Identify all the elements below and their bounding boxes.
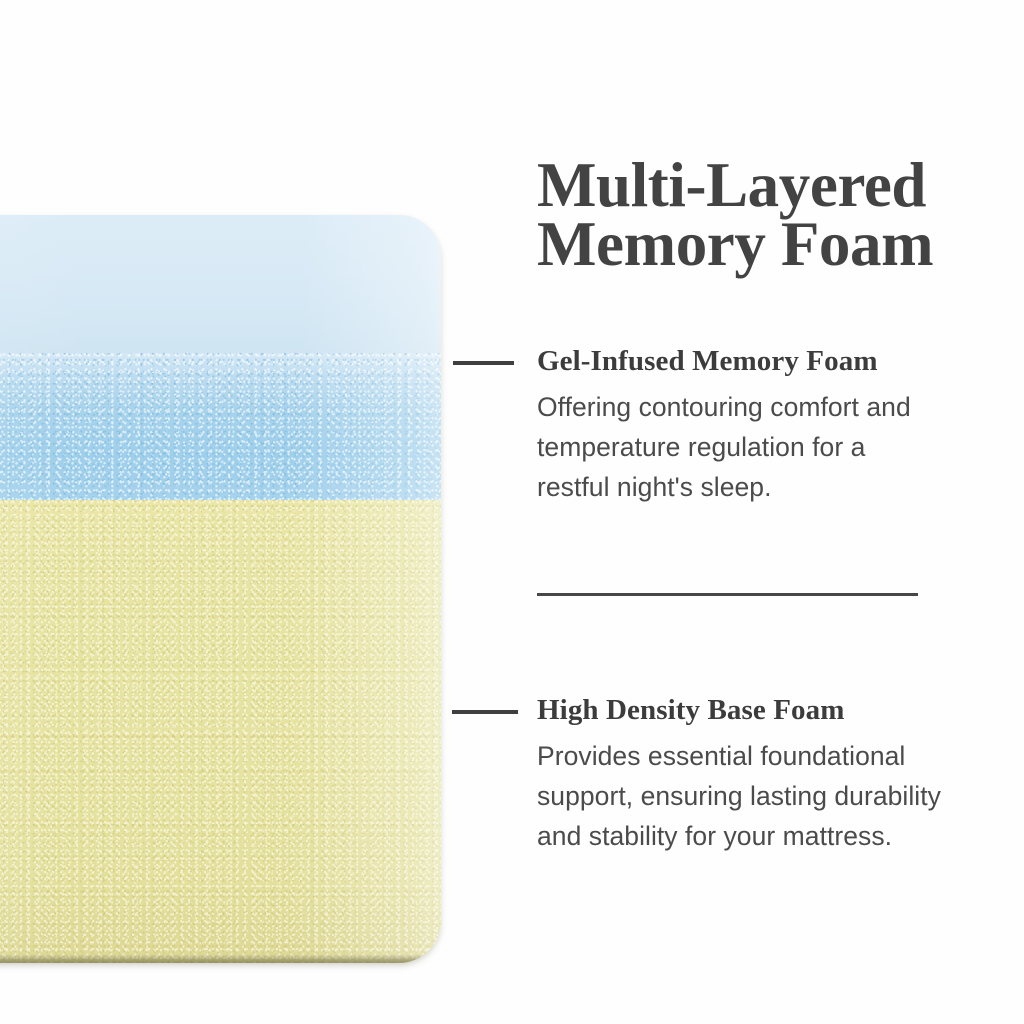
feature-body-gel-foam-line-3: restful night's sleep. [537, 467, 1007, 507]
feature-body-base-foam-line-1: Provides essential foundational [537, 736, 1007, 776]
foam-block-bottom-edge [0, 954, 441, 963]
gel-foam-texture [0, 353, 441, 517]
foam-layer-gel-infused-memory-foam [0, 353, 441, 517]
feature-body-gel-foam-line-1: Offering contouring comfort and [537, 387, 1007, 427]
feature-body-base-foam-line-3: and stability for your mattress. [537, 816, 1007, 856]
text-column: Multi-Layered Memory Foam Gel-Infused Me… [537, 0, 999, 1024]
feature-body-gel-foam-line-2: temperature regulation for a [537, 427, 1007, 467]
feature-body-gel-foam: Offering contouring comfort and temperat… [537, 387, 1007, 507]
feature-high-density-base-foam: High Density Base Foam Provides essentia… [537, 693, 999, 856]
base-foam-texture [0, 500, 441, 963]
page-title-line-1: Multi-Layered [537, 156, 999, 215]
foam-layer-top-cover [0, 215, 441, 355]
feature-title-base-foam: High Density Base Foam [537, 693, 999, 727]
leader-line-gel-foam [453, 361, 514, 365]
foam-block-illustration [0, 215, 441, 963]
leader-line-base-foam [452, 710, 518, 714]
page-title: Multi-Layered Memory Foam [537, 156, 999, 274]
infographic-canvas: Multi-Layered Memory Foam Gel-Infused Me… [0, 0, 1024, 1024]
feature-body-base-foam: Provides essential foundational support,… [537, 736, 1007, 856]
feature-title-gel-foam: Gel-Infused Memory Foam [537, 344, 999, 378]
feature-gel-infused-memory-foam: Gel-Infused Memory Foam Offering contour… [537, 344, 999, 507]
page-title-line-2: Memory Foam [537, 215, 999, 274]
feature-body-base-foam-line-2: support, ensuring lasting durability [537, 776, 1007, 816]
foam-layer-high-density-base-foam [0, 500, 441, 963]
